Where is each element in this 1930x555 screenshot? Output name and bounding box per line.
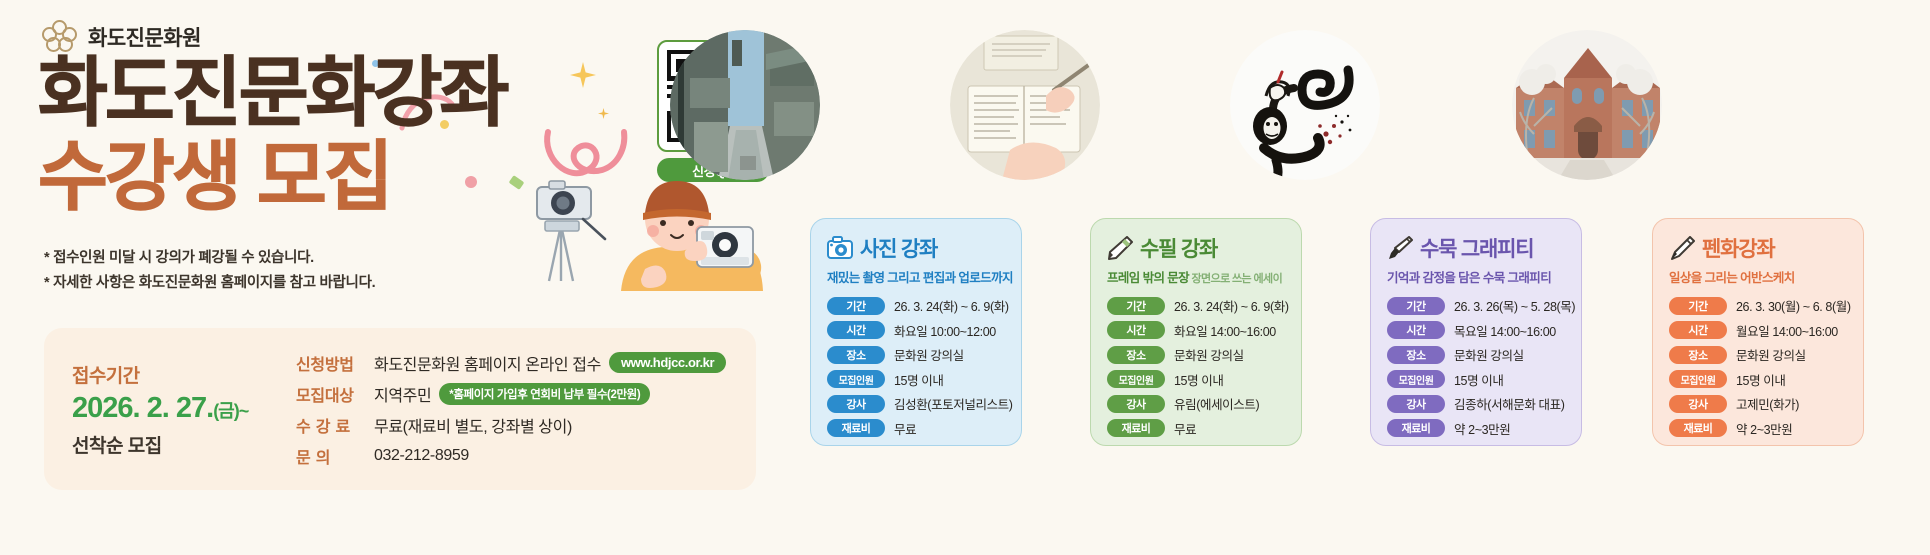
detail-tag-capacity: 모집인원: [1669, 370, 1727, 388]
course-detail-rows: 기간26. 3. 30(월) ~ 6. 8(월)시간월요일 14:00~16:0…: [1669, 296, 1849, 438]
course-subtitle: 일상을 그리는 어반스케치: [1669, 267, 1849, 286]
course-subtitle: 재밌는 촬영 그리고 편집과 업로드까지: [827, 267, 1007, 286]
course-detail-row: 기간26. 3. 26(목) ~ 5. 28(목): [1387, 296, 1567, 315]
info-row: 문의032-212-8959: [296, 444, 744, 468]
detail-tag-period: 기간: [1387, 297, 1445, 315]
page-title-line1: 화도진문화강좌: [38, 56, 506, 132]
course-detail-rows: 기간26. 3. 24(화) ~ 6. 9(화)시간화요일 10:00~12:0…: [827, 296, 1007, 438]
period-block: 접수기간 2026. 2. 27.(금)~ 선착순 모집: [44, 361, 296, 458]
course-subtitle: 프레임 밖의 문장 장면으로 쓰는 에세이: [1107, 267, 1287, 286]
dot-pink: [465, 176, 477, 188]
info-row-value: 화도진문화원 홈페이지 온라인 접수: [374, 351, 601, 375]
course-title: 사진 강좌: [860, 233, 937, 263]
info-row: 모집대상지역주민*홈페이지 가입후 연회비 납부 필수(2만원): [296, 382, 744, 406]
detail-value-capacity: 15명 이내: [1174, 370, 1223, 389]
detail-tag-capacity: 모집인원: [1107, 370, 1165, 388]
detail-value-period: 26. 3. 30(월) ~ 6. 8(월): [1736, 296, 1851, 315]
course-subtitle-secondary: 장면으로 쓰는 에세이: [1189, 273, 1282, 285]
building-sketch-artwork: [1512, 30, 1662, 180]
registration-info-box: 접수기간 2026. 2. 27.(금)~ 선착순 모집 신청방법화도진문화원 …: [44, 328, 756, 490]
detail-tag-time: 시간: [827, 321, 885, 339]
course-subtitle: 기억과 감정을 담은 수묵 그래피티: [1387, 267, 1567, 286]
notes-list: * 접수인원 미달 시 강의가 폐강될 수 있습니다. * 자세한 사항은 화도…: [44, 246, 375, 297]
detail-value-material: 무료: [1174, 419, 1196, 438]
course-detail-row: 모집인원15명 이내: [1669, 370, 1849, 389]
course-detail-row: 시간화요일 14:00~16:00: [1107, 321, 1287, 340]
detail-value-capacity: 15명 이내: [1736, 370, 1785, 389]
alley-photo: [670, 30, 820, 180]
detail-tag-place: 장소: [827, 346, 885, 364]
detail-value-time: 월요일 14:00~16:00: [1736, 321, 1838, 340]
course-detail-row: 장소문화원 강의실: [1669, 345, 1849, 364]
detail-tag-teacher: 강사: [1387, 395, 1445, 413]
course-card-header: 수필 강좌: [1107, 233, 1287, 263]
course-title: 수필 강좌: [1140, 233, 1217, 263]
photographer-mascot-illustration: [525, 165, 795, 295]
course-detail-row: 장소문화원 강의실: [1387, 345, 1567, 364]
course-card[interactable]: 수필 강좌프레임 밖의 문장 장면으로 쓰는 에세이기간26. 3. 24(화)…: [1090, 218, 1302, 446]
detail-value-place: 문화원 강의실: [1174, 345, 1244, 364]
org-name: 화도진문화원: [88, 22, 201, 52]
course-detail-row: 시간월요일 14:00~16:00: [1669, 321, 1849, 340]
detail-value-teacher: 유림(에세이스트): [1174, 394, 1259, 413]
period-day-value: (금)~: [213, 401, 248, 421]
detail-value-place: 문화원 강의실: [1454, 345, 1524, 364]
course-detail-row: 장소문화원 강의실: [827, 345, 1007, 364]
course-detail-row: 강사유림(에세이스트): [1107, 394, 1287, 413]
course-card-header: 사진 강좌: [827, 233, 1007, 263]
camera-icon: [827, 236, 853, 260]
detail-tag-place: 장소: [1669, 346, 1727, 364]
detail-tag-material: 재료비: [1387, 419, 1445, 437]
detail-value-place: 문화원 강의실: [894, 345, 964, 364]
course-detail-row: 강사김성환(포토저널리스트): [827, 394, 1007, 413]
course-detail-row: 모집인원15명 이내: [1387, 370, 1567, 389]
detail-value-period: 26. 3. 24(화) ~ 6. 9(화): [1174, 296, 1289, 315]
course-detail-row: 장소문화원 강의실: [1107, 345, 1287, 364]
course-detail-row: 시간화요일 10:00~12:00: [827, 321, 1007, 340]
note-item: * 접수인원 미달 시 강의가 폐강될 수 있습니다.: [44, 246, 375, 271]
detail-tag-capacity: 모집인원: [827, 370, 885, 388]
detail-value-time: 화요일 10:00~12:00: [894, 321, 996, 340]
course-detail-row: 기간26. 3. 24(화) ~ 6. 9(화): [827, 296, 1007, 315]
detail-value-period: 26. 3. 24(화) ~ 6. 9(화): [894, 296, 1009, 315]
brush-icon: [1387, 236, 1413, 260]
info-row-label: 문의: [296, 444, 374, 468]
info-row-label: 신청방법: [296, 351, 374, 375]
info-row-value: 무료(재료비 별도, 강좌별 상이): [374, 413, 572, 437]
detail-value-time: 목요일 14:00~16:00: [1454, 321, 1556, 340]
info-row-label: 수강료: [296, 413, 374, 437]
dot-green: [509, 175, 525, 190]
detail-tag-period: 기간: [1669, 297, 1727, 315]
info-rows: 신청방법화도진문화원 홈페이지 온라인 접수www.hdjcc.or.kr모집대…: [296, 344, 756, 475]
info-row: 수강료무료(재료비 별도, 강좌별 상이): [296, 413, 744, 437]
sparkle-small-icon: [598, 108, 609, 119]
course-detail-row: 재료비무료: [827, 419, 1007, 438]
course-detail-rows: 기간26. 3. 26(목) ~ 5. 28(목)시간목요일 14:00~16:…: [1387, 296, 1567, 438]
info-row-label: 모집대상: [296, 382, 374, 406]
course-detail-row: 강사김종하(서해문화 대표): [1387, 394, 1567, 413]
detail-value-teacher: 고제민(화가): [1736, 394, 1799, 413]
detail-tag-time: 시간: [1107, 321, 1165, 339]
detail-tag-material: 재료비: [1669, 419, 1727, 437]
org-logo: 화도진문화원: [42, 20, 201, 54]
note-item: * 자세한 사항은 화도진문화원 홈페이지를 참고 바랍니다.: [44, 271, 375, 296]
info-row: 신청방법화도진문화원 홈페이지 온라인 접수www.hdjcc.or.kr: [296, 351, 744, 375]
period-note: 선착순 모집: [72, 431, 296, 458]
info-row-value: 032-212-8959: [374, 447, 469, 465]
detail-value-period: 26. 3. 26(목) ~ 5. 28(목): [1454, 296, 1575, 315]
pen-icon: [1669, 236, 1695, 260]
period-kicker: 접수기간: [72, 361, 296, 388]
course-card-header: 펜화강좌: [1669, 233, 1849, 263]
detail-tag-time: 시간: [1669, 321, 1727, 339]
course-title: 수묵 그래피티: [1420, 233, 1533, 263]
ink-monkey-artwork: [1230, 30, 1380, 180]
detail-value-teacher: 김성환(포토저널리스트): [894, 394, 1013, 413]
membership-fee-badge: *홈페이지 가입후 연회비 납부 필수(2만원): [439, 383, 650, 405]
course-card[interactable]: 펜화강좌일상을 그리는 어반스케치기간26. 3. 30(월) ~ 6. 8(월…: [1652, 218, 1864, 446]
page-title-line2: 수강생 모집: [38, 140, 391, 216]
detail-tag-place: 장소: [1107, 346, 1165, 364]
detail-value-capacity: 15명 이내: [1454, 370, 1503, 389]
course-title: 펜화강좌: [1702, 233, 1774, 263]
detail-tag-material: 재료비: [827, 419, 885, 437]
course-card[interactable]: 수묵 그래피티기억과 감정을 담은 수묵 그래피티기간26. 3. 26(목) …: [1370, 218, 1582, 446]
detail-tag-place: 장소: [1387, 346, 1445, 364]
period-date: 2026. 2. 27.(금)~: [72, 392, 296, 425]
detail-value-time: 화요일 14:00~16:00: [1174, 321, 1276, 340]
detail-value-material: 약 2~3만원: [1736, 419, 1792, 438]
website-badge[interactable]: www.hdjcc.or.kr: [609, 352, 726, 373]
period-date-value: 2026. 2. 27.: [72, 392, 213, 424]
detail-tag-period: 기간: [827, 297, 885, 315]
detail-tag-teacher: 강사: [827, 395, 885, 413]
detail-tag-material: 재료비: [1107, 419, 1165, 437]
detail-tag-teacher: 강사: [1669, 395, 1727, 413]
info-row-value: 지역주민: [374, 382, 431, 406]
detail-value-capacity: 15명 이내: [894, 370, 943, 389]
detail-tag-teacher: 강사: [1107, 395, 1165, 413]
course-card[interactable]: 사진 강좌재밌는 촬영 그리고 편집과 업로드까지기간26. 3. 24(화) …: [810, 218, 1022, 446]
course-detail-row: 모집인원15명 이내: [827, 370, 1007, 389]
course-card-header: 수묵 그래피티: [1387, 233, 1567, 263]
pencil-icon: [1107, 236, 1133, 260]
course-detail-row: 기간26. 3. 30(월) ~ 6. 8(월): [1669, 296, 1849, 315]
course-detail-row: 시간목요일 14:00~16:00: [1387, 321, 1567, 340]
course-detail-row: 재료비무료: [1107, 419, 1287, 438]
detail-tag-capacity: 모집인원: [1387, 370, 1445, 388]
course-detail-rows: 기간26. 3. 24(화) ~ 6. 9(화)시간화요일 14:00~16:0…: [1107, 296, 1287, 438]
detail-value-teacher: 김종하(서해문화 대표): [1454, 394, 1565, 413]
poster-root: 화도진문화원 화도진문화강좌 수강생 모집 * 접수인원 미달 시 강의가 폐강…: [0, 0, 1930, 555]
course-detail-row: 강사고제민(화가): [1669, 394, 1849, 413]
detail-value-place: 문화원 강의실: [1736, 345, 1806, 364]
notebook-writing-photo: [950, 30, 1100, 180]
detail-tag-period: 기간: [1107, 297, 1165, 315]
course-detail-row: 재료비약 2~3만원: [1669, 419, 1849, 438]
sparkle-icon: [570, 62, 596, 88]
course-detail-row: 모집인원15명 이내: [1107, 370, 1287, 389]
detail-value-material: 무료: [894, 419, 916, 438]
detail-tag-time: 시간: [1387, 321, 1445, 339]
flower-logo-icon: [42, 20, 78, 54]
course-detail-row: 기간26. 3. 24(화) ~ 6. 9(화): [1107, 296, 1287, 315]
course-detail-row: 재료비약 2~3만원: [1387, 419, 1567, 438]
detail-value-material: 약 2~3만원: [1454, 419, 1510, 438]
